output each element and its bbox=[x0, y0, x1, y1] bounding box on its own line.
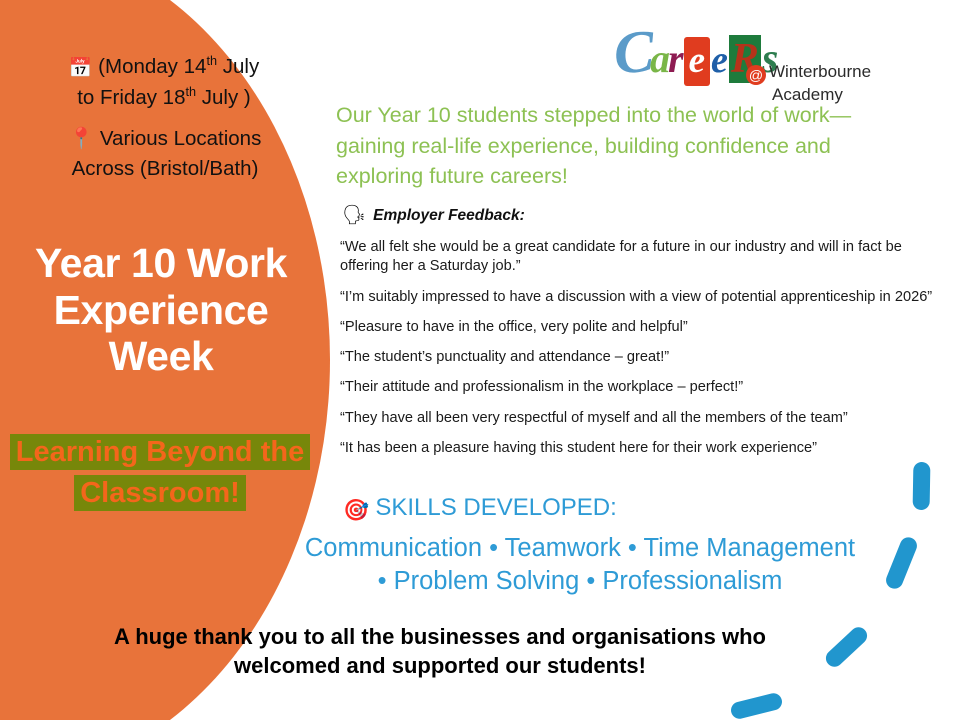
skills-line-2: • Problem Solving • Professionalism bbox=[230, 565, 930, 598]
skills-developed-list: Communication • Teamwork • Time Manageme… bbox=[230, 532, 930, 597]
logo-letter-e-globe: e bbox=[711, 38, 728, 82]
left-column: 📅 (Monday 14th July to Friday 18th July … bbox=[0, 0, 332, 720]
event-locations: 📍 Various Locations Across (Bristol/Bath… bbox=[10, 124, 320, 183]
event-dates-text-2b: July ) bbox=[196, 86, 251, 109]
dart-target-icon: 🎯 bbox=[343, 499, 369, 522]
list-item: “Their attitude and professionalism in t… bbox=[340, 378, 945, 397]
employer-feedback-label: Employer Feedback: bbox=[373, 207, 525, 225]
list-item: “The student’s punctuality and attendanc… bbox=[340, 348, 945, 367]
event-dates-line-2: to Friday 18th July ) bbox=[14, 83, 314, 112]
event-dates-sup-1: th bbox=[206, 53, 217, 68]
event-dates-text-2: to Friday 18 bbox=[77, 86, 185, 109]
calendar-icon: 📅 bbox=[69, 58, 93, 79]
logo-letter-e-first: e bbox=[684, 37, 710, 86]
skills-line-1: Communication • Teamwork • Time Manageme… bbox=[230, 532, 930, 565]
logo-letter-r: r bbox=[668, 35, 684, 82]
event-locations-line-1: 📍 Various Locations bbox=[10, 124, 320, 154]
event-dates-text-1: (Monday 14 bbox=[98, 55, 206, 78]
location-pin-icon: 📍 bbox=[69, 127, 95, 150]
thank-you-line-2: welcomed and supported our students! bbox=[30, 651, 850, 680]
logo-subtitle-line-1: Winterbourne bbox=[769, 62, 871, 81]
list-item: “It has been a pleasure having this stud… bbox=[340, 439, 945, 458]
page-title-line-2: Experience bbox=[6, 287, 316, 334]
list-item: “I’m suitably impressed to have a discus… bbox=[340, 288, 945, 307]
logo-at-icon: @ bbox=[746, 65, 766, 85]
speaking-head-icon: 🗣 bbox=[342, 206, 366, 225]
event-dates-sup-2: th bbox=[185, 84, 196, 99]
employer-feedback-heading: 🗣 Employer Feedback: bbox=[342, 206, 525, 225]
event-dates-text-1b: July bbox=[217, 55, 259, 78]
page-title: Year 10 Work Experience Week bbox=[6, 240, 316, 380]
blue-dash-decoration-4 bbox=[729, 691, 784, 720]
employer-quote-list: “We all felt she would be a great candid… bbox=[340, 238, 945, 469]
logo-subtitle: @Winterbourne Academy bbox=[746, 62, 871, 104]
skills-developed-heading: 🎯SKILLS DEVELOPED: bbox=[0, 494, 960, 523]
event-dates-line-1: 📅 (Monday 14th July bbox=[14, 52, 314, 83]
event-dates: 📅 (Monday 14th July to Friday 18th July … bbox=[14, 52, 314, 112]
intro-paragraph: Our Year 10 students stepped into the wo… bbox=[336, 100, 896, 192]
page-title-line-1: Year 10 Work bbox=[6, 240, 316, 287]
poster-canvas: CareeRs @Winterbourne Academy 📅 (Monday … bbox=[0, 0, 960, 720]
list-item: “We all felt she would be a great candid… bbox=[340, 238, 945, 277]
event-locations-line-2: Across (Bristol/Bath) bbox=[10, 154, 320, 184]
thank-you-message: A huge thank you to all the businesses a… bbox=[30, 622, 850, 681]
careers-winterbourne-academy-logo: CareeRs @Winterbourne Academy bbox=[614, 14, 914, 100]
thank-you-line-1: A huge thank you to all the businesses a… bbox=[30, 622, 850, 651]
skills-developed-label: SKILLS DEVELOPED: bbox=[375, 494, 616, 521]
list-item: “They have all been very respectful of m… bbox=[340, 409, 945, 428]
logo-letter-c: C bbox=[612, 17, 657, 89]
event-locations-text-1: Various Locations bbox=[100, 127, 261, 150]
page-title-line-3: Week bbox=[6, 333, 316, 380]
list-item: “Pleasure to have in the office, very po… bbox=[340, 318, 945, 337]
